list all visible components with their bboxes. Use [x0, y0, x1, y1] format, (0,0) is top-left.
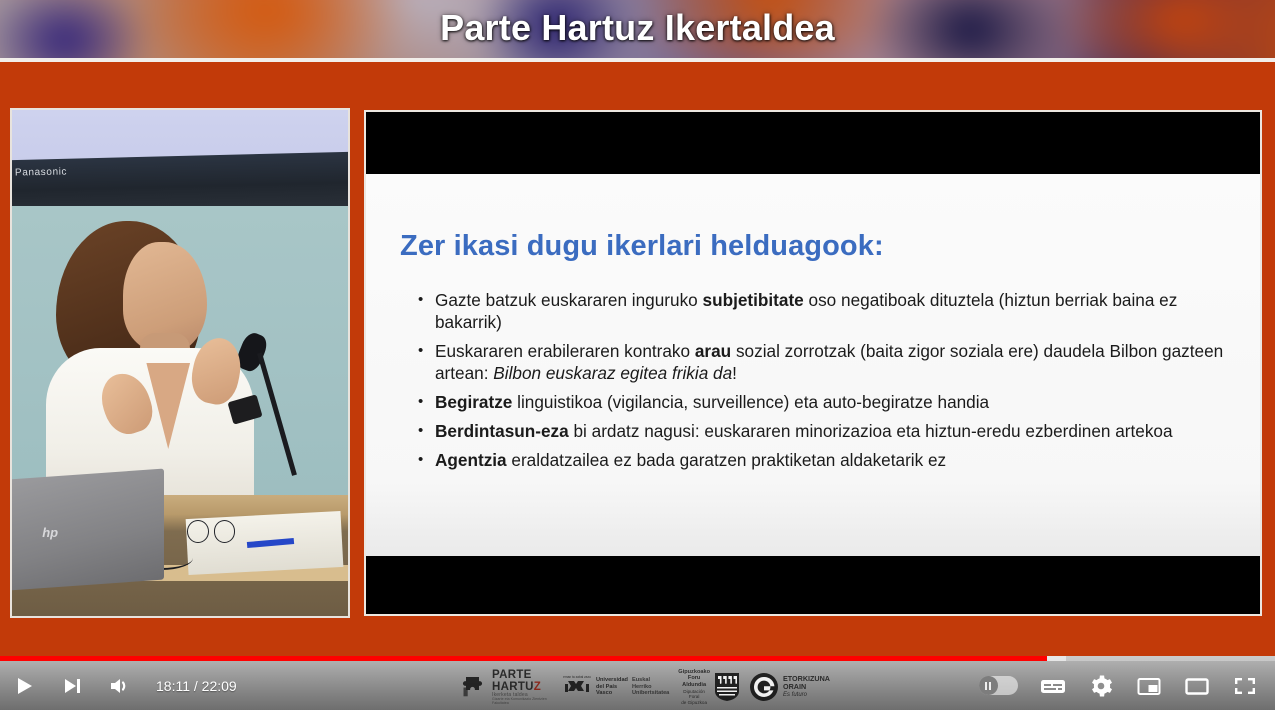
logo-etorkizuna-text: ETORKIZUNA ORAIN Es futuro: [783, 675, 830, 700]
theater-mode-button[interactable]: [1173, 661, 1221, 710]
header-divider: [0, 58, 1275, 62]
eyeglasses-right-lens: [214, 520, 236, 543]
ehu-line-1: Euskal Herriko: [632, 677, 669, 690]
subtitles-button[interactable]: [1029, 661, 1077, 710]
slide-bullet: •Begiratze linguistikoa (vigilancia, sur…: [400, 391, 1226, 413]
slide-bullet-text: Begiratze linguistikoa (vigilancia, surv…: [435, 391, 1226, 413]
slide-bullet: •Gazte batzuk euskararen inguruko subjet…: [400, 289, 1226, 333]
controls-left-group: 18:11 / 22:09: [0, 661, 237, 710]
miniplayer-button[interactable]: [1125, 661, 1173, 710]
slide-bullet-text: Agentzia eraldatzailea ez bada garatzen …: [435, 449, 1226, 471]
bullet-marker-icon: •: [418, 289, 435, 310]
etorkizuna-line-3: Es futuro: [783, 692, 830, 699]
volume-button[interactable]: [96, 661, 144, 710]
autoplay-toggle[interactable]: [967, 661, 1029, 710]
bullet-marker-icon: •: [418, 449, 435, 470]
next-video-button[interactable]: [48, 661, 96, 710]
logo-ehu-text: Euskal Herriko Unibertsitatea: [632, 677, 669, 696]
bullet-marker-icon: •: [418, 420, 435, 441]
logo-line-footer: Gizarte eta Komunikazio Zientzien Fakult…: [492, 698, 553, 706]
gipuzkoa-coat-of-arms-icon: [714, 672, 740, 702]
upv-emblem-icon: eman ta zabal zazu: [562, 673, 592, 701]
time-display: 18:11 / 22:09: [156, 678, 237, 694]
logo-line-parte: PARTE: [492, 669, 553, 681]
logo-parte-hartuz: PARTE HARTUZ Ikerketa taldea Gizarte eta…: [462, 669, 553, 706]
logo-upv-ehu: eman ta zabal zazu Universidad del País …: [562, 673, 669, 701]
upv-line-2: del País Vasco: [596, 684, 628, 697]
play-button[interactable]: [0, 661, 48, 710]
etorkizuna-g-icon: [749, 672, 779, 702]
bullet-marker-icon: •: [418, 391, 435, 412]
upv-line-1: Universidad: [596, 677, 628, 683]
logo-gipuzkoa-text: Gipuzkoako Foru Aldundia Diputación Fora…: [678, 669, 710, 706]
eyeglasses-left-lens: [187, 520, 209, 543]
page-title: Parte Hartuz Ikertaldea: [0, 0, 1275, 55]
gipuzkoa-line-3: Diputación Foral: [678, 689, 710, 700]
logo-gipuzkoa: Gipuzkoako Foru Aldundia Diputación Fora…: [678, 669, 740, 706]
logo-line-hartuz: HARTUZ: [492, 681, 553, 693]
logo-upv-text: Universidad del País Vasco: [596, 677, 628, 696]
logo-etorkizuna-orain: ETORKIZUNA ORAIN Es futuro: [749, 672, 830, 702]
letterbox-top: [366, 112, 1260, 174]
pause-icon: [979, 676, 998, 695]
slide-bullet: •Agentzia eraldatzailea ez bada garatzen…: [400, 449, 1226, 471]
gipuzkoa-line-1: Gipuzkoako: [678, 669, 710, 676]
video-player: Parte Hartuz Ikertaldea Panasonic: [0, 0, 1275, 710]
gipuzkoa-line-4: de Gipuzkoa: [678, 700, 710, 706]
projector-brand-label: Panasonic: [15, 166, 67, 178]
svg-text:eman ta zabal zazu: eman ta zabal zazu: [563, 675, 591, 679]
gipuzkoa-line-2: Foru Aldundia: [678, 675, 710, 688]
fullscreen-button[interactable]: [1221, 661, 1269, 710]
letterbox-bottom: [366, 556, 1260, 614]
puzzle-piece-icon: [462, 675, 488, 699]
slide-bullet-text: Berdintasun-eza bi ardatz nagusi: euskar…: [435, 420, 1226, 442]
slide-bullet: •Euskararen erabileraren kontrako arau s…: [400, 340, 1226, 384]
speaker-scene: Panasonic hp: [12, 110, 348, 616]
bullet-marker-icon: •: [418, 340, 435, 361]
laptop-brand-label: hp: [42, 525, 58, 540]
slide-bullet: •Berdintasun-eza bi ardatz nagusi: euska…: [400, 420, 1226, 442]
sponsor-logo-strip: PARTE HARTUZ Ikerketa taldea Gizarte eta…: [462, 667, 830, 707]
slide-bullet-text: Euskararen erabileraren kontrako arau so…: [435, 340, 1226, 384]
slide-content: Zer ikasi dugu ikerlari helduagook: •Gaz…: [366, 174, 1260, 560]
ehu-line-2: Unibertsitatea: [632, 690, 669, 696]
laptop: [10, 469, 163, 591]
logo-parte-hartuz-text: PARTE HARTUZ Ikerketa taldea Gizarte eta…: [492, 669, 553, 706]
controls-right-group: [967, 661, 1269, 710]
slide-bullet-list: •Gazte batzuk euskararen inguruko subjet…: [400, 289, 1226, 471]
speaker-video-panel: Panasonic hp: [10, 108, 350, 618]
etorkizuna-line-2: ORAIN: [783, 683, 830, 692]
settings-button[interactable]: [1077, 661, 1125, 710]
slide-bullet-text: Gazte batzuk euskararen inguruko subjeti…: [435, 289, 1226, 333]
presentation-slide-panel: Zer ikasi dugu ikerlari helduagook: •Gaz…: [364, 110, 1262, 616]
autoplay-track: [979, 676, 1018, 695]
slide-title: Zer ikasi dugu ikerlari helduagook:: [400, 230, 1226, 263]
